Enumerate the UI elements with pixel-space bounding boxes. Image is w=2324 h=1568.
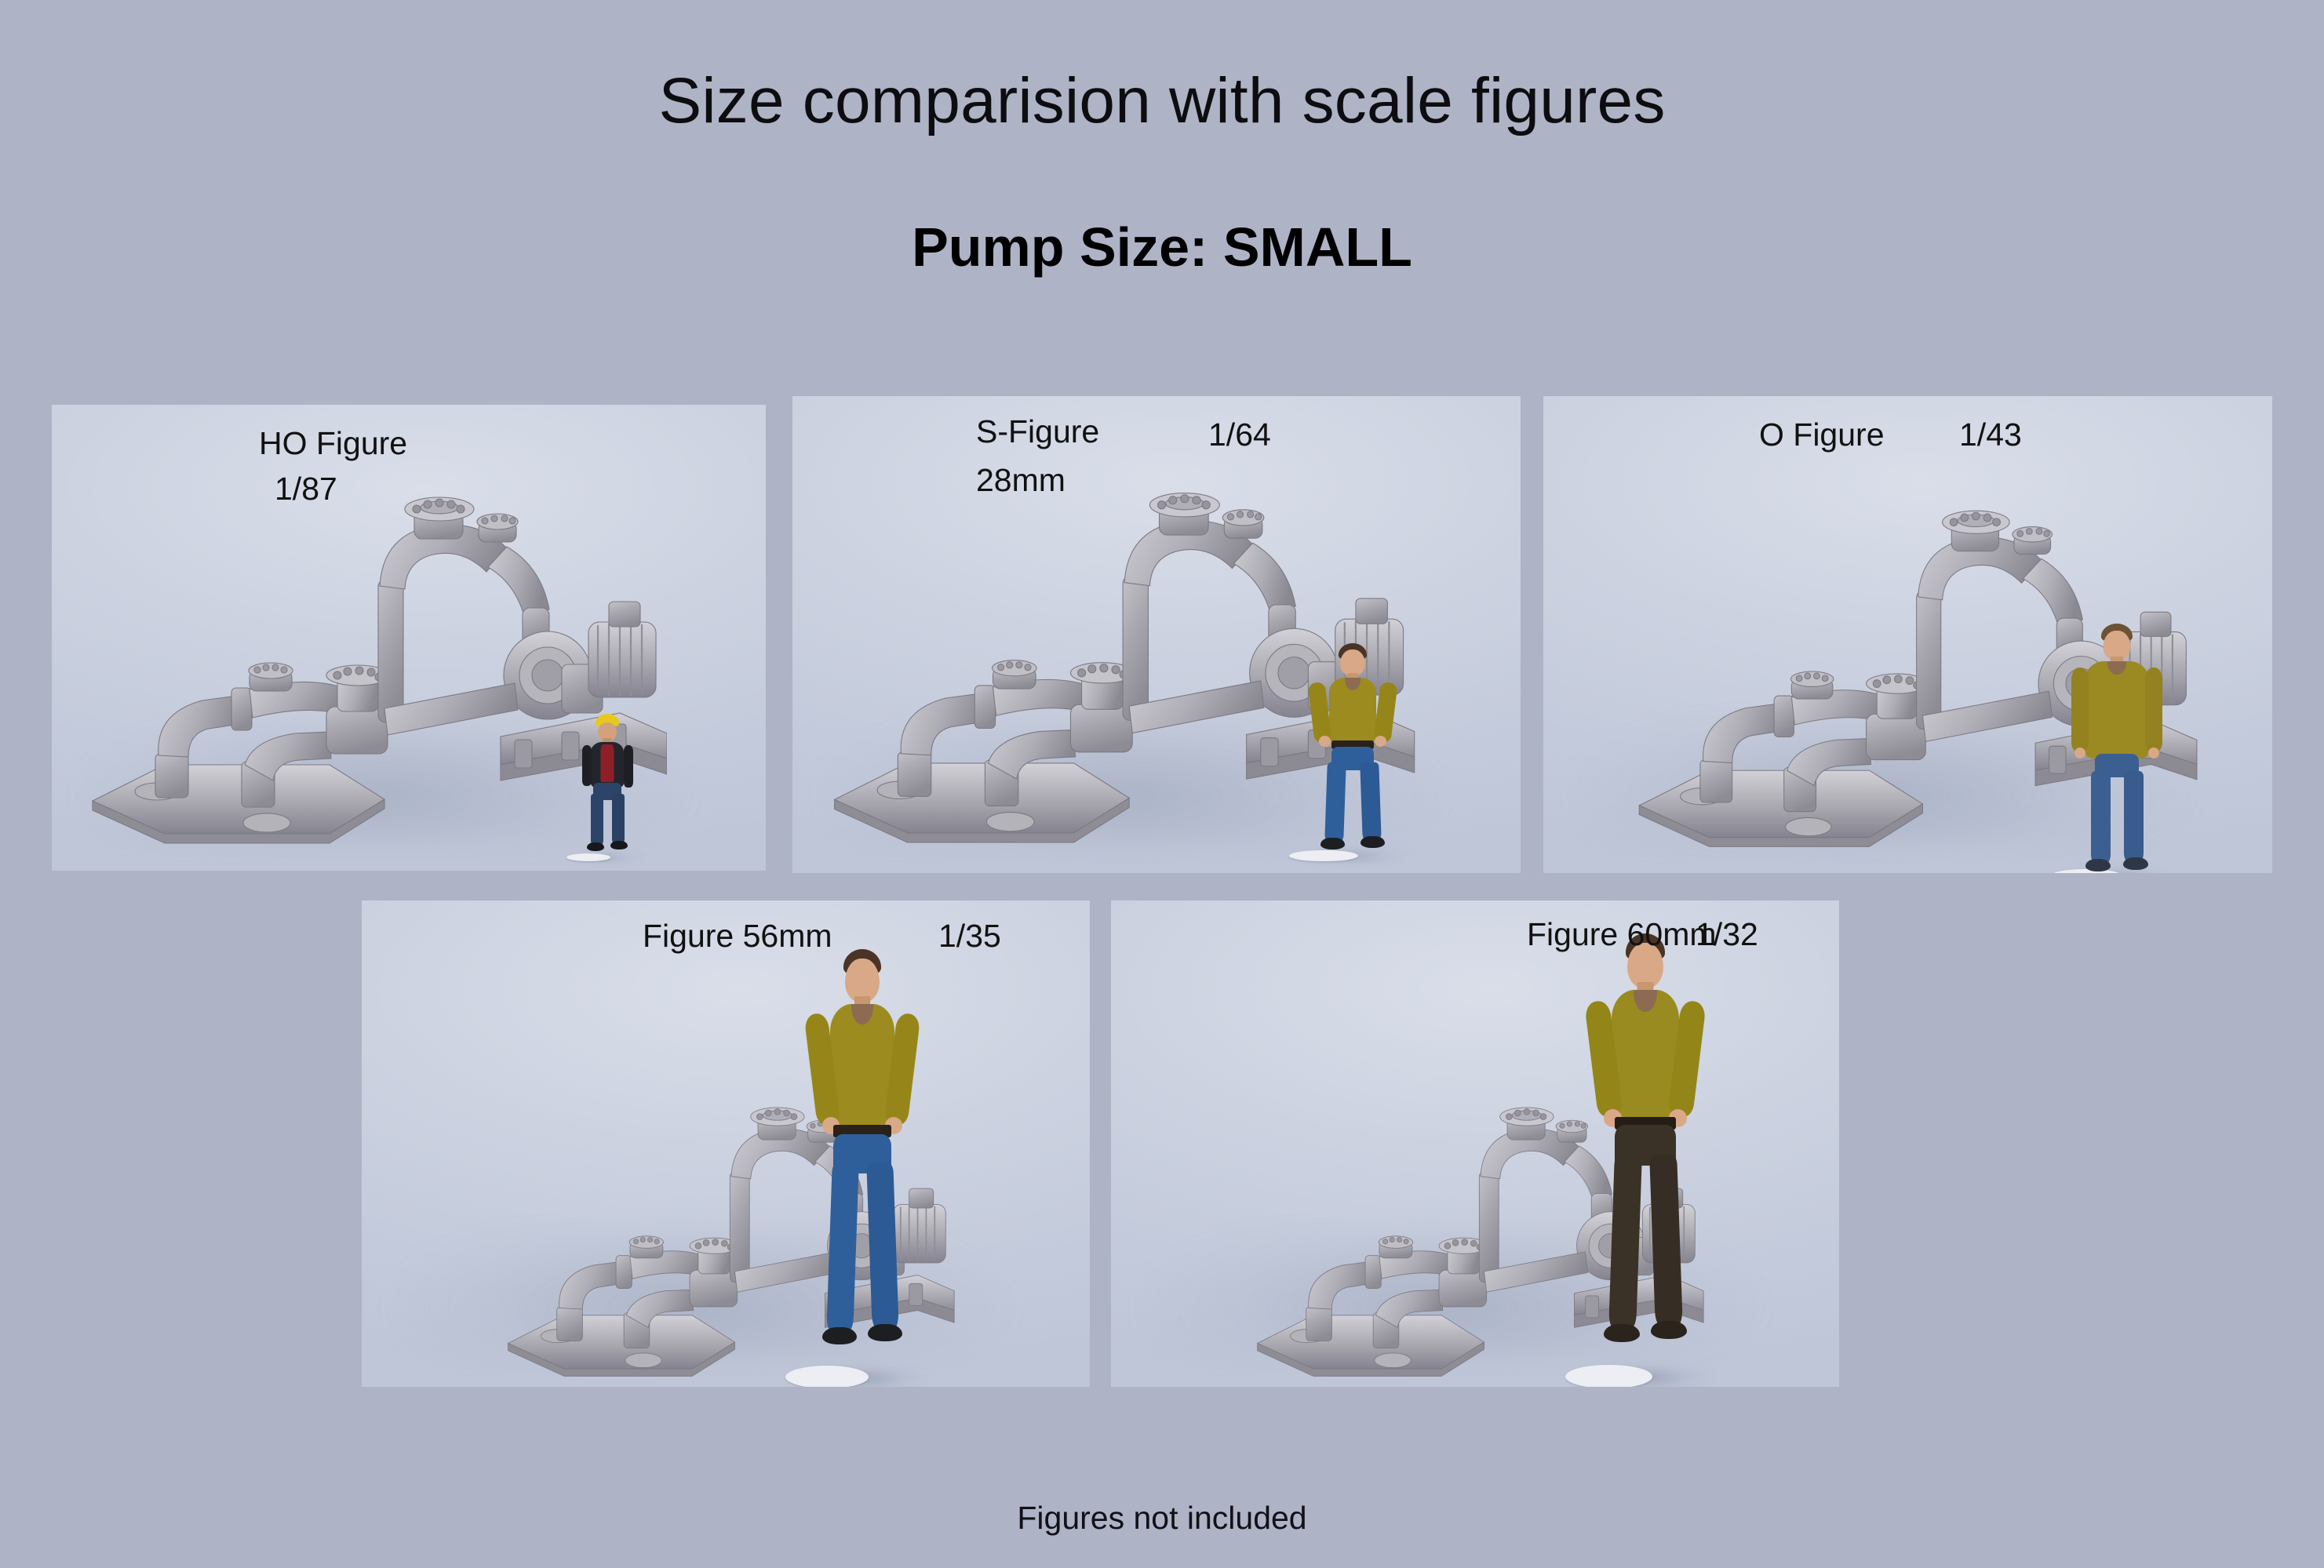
figure-left-leg [591,794,603,846]
figure-left-shoe [587,842,604,851]
figure-left-shoe [1320,838,1345,849]
scale-figure-60mm [1590,933,1701,1387]
figure-shirt [601,744,614,782]
panel-label-s-figure: S-Figure [976,412,1099,451]
figure-left-shoe [822,1327,857,1344]
figure-left-arm [2071,668,2089,752]
panel-figure-56mm: Figure 56mm 1/35 [362,900,1090,1387]
figure-left-leg [826,1162,859,1333]
figure-right-shoe [1361,836,1385,848]
panel-scale-figure-60mm: 1/32 [1696,915,1758,954]
figure-right-hand [2148,748,2159,759]
panel-scale-figure-56mm: 1/35 [938,916,1001,955]
page-subtitle: Pump Size: SMALL [0,220,2324,275]
footer-note: Figures not included [0,1502,2324,1534]
figure-right-arm [1373,682,1397,743]
figure-right-leg [2124,771,2144,862]
panel-o-figure: O Figure 1/43 [1543,396,2272,873]
panel-label-o-figure: O Figure [1759,415,1885,454]
pump-model-image [71,448,667,852]
figure-jacket [2085,661,2149,759]
panel-label-ho-figure: HO Figure [259,424,407,463]
figure-left-leg [1608,1154,1642,1330]
figure-right-hand [1375,736,1386,747]
panel-label-figure-56mm: Figure 56mm [643,916,832,955]
figure-left-shoe [2085,859,2111,871]
figure-right-shoe [868,1324,902,1341]
panel-sublabel-s-figure: 28mm [976,460,1065,500]
panel-scale-ho-figure: 1/87 [275,469,337,508]
figure-left-leg [1324,762,1346,843]
figure-right-leg [866,1162,898,1330]
figure-right-shoe [610,841,628,849]
panel-figure-60mm: Figure 60mm 1/32 [1111,900,1839,1387]
panel-scale-o-figure: 1/43 [1959,415,2022,454]
figure-base [566,853,610,861]
figure-right-arm [2145,668,2162,752]
figure-head [1340,649,1365,676]
figure-right-arm [624,745,633,788]
figure-base [1289,850,1357,861]
scale-figure-ho [579,712,636,861]
panel-label-figure-60mm: Figure 60mm [1527,915,1717,954]
scale-figure-o [2071,624,2163,873]
figure-left-arm [582,745,592,786]
figure-left-hand [2074,748,2085,759]
figure-base [1565,1365,1652,1387]
figure-right-shoe [1651,1321,1687,1339]
scale-figure-56mm [809,949,916,1387]
figure-right-leg [1649,1154,1683,1327]
figure-left-shoe [1604,1324,1640,1342]
page-title: Size comparision with scale figures [0,69,2324,133]
figure-right-shoe [2123,857,2148,870]
figure-left-leg [2091,771,2111,864]
scale-figure-s [1309,643,1397,861]
panel-scale-s-figure: 1/64 [1208,415,1271,454]
figure-right-leg [612,794,625,844]
figure-right-leg [1360,762,1381,842]
panel-ho-figure: HO Figure 1/87 [52,405,766,871]
figure-left-hand [1319,736,1331,747]
figure-left-arm [1307,682,1331,743]
figure-base [785,1366,869,1387]
panel-s-figure: S-Figure 28mm 1/64 [792,396,1521,873]
